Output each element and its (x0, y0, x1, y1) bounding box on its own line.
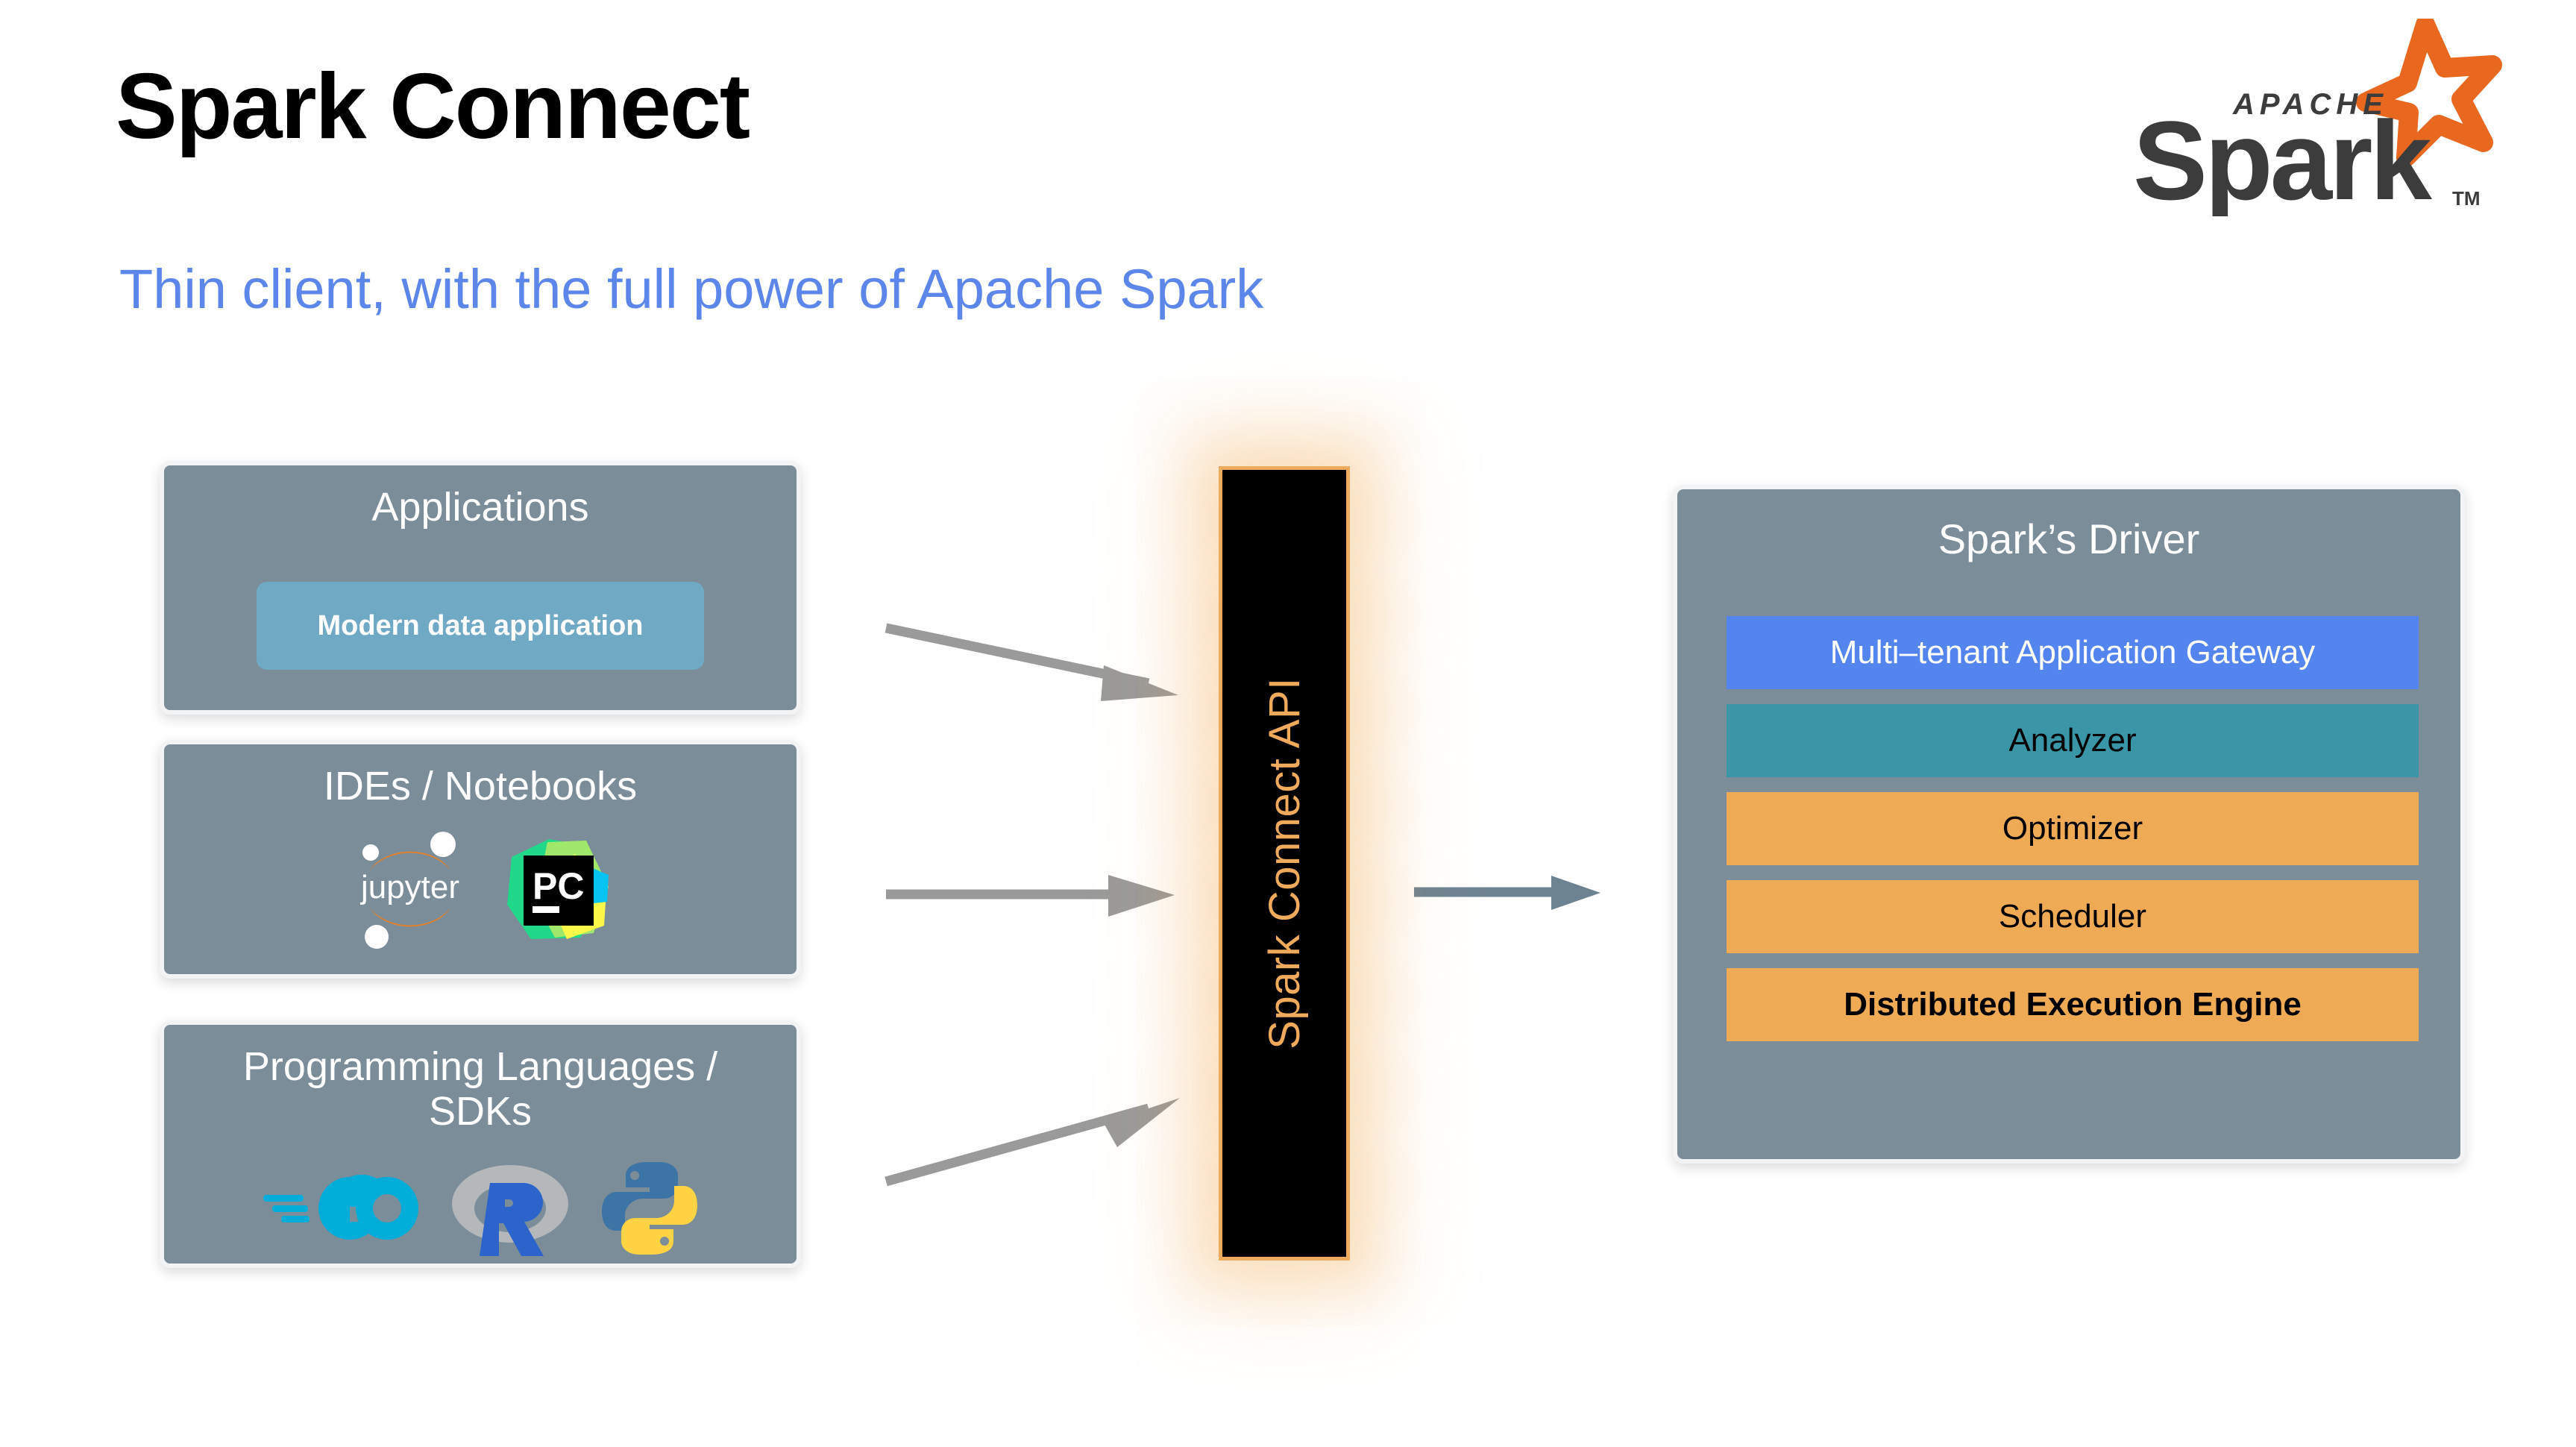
go-logo (260, 1164, 421, 1257)
client-card-ides-notebooks[interactable]: IDEs / Notebooks jupyter (160, 740, 801, 979)
slide-canvas: Spark Connect Thin client, with the full… (0, 0, 2576, 1447)
driver-layer-analyzer[interactable]: Analyzer (1727, 704, 2419, 777)
svg-text:PC: PC (533, 865, 584, 907)
driver-layer-label: Optimizer (2002, 810, 2143, 847)
spark-driver-panel[interactable]: Spark’s Driver Multi–tenant Application … (1673, 485, 2465, 1164)
client-card-applications[interactable]: Applications Modern data application (160, 461, 801, 715)
driver-layer-label: Distributed Execution Engine (1844, 986, 2302, 1023)
spark-driver-layer-stack: Multi–tenant Application Gateway Analyze… (1727, 616, 2419, 1056)
trademark-mark: TM (2452, 187, 2481, 210)
ide-logo-row: jupyter PC (164, 825, 797, 957)
driver-layer-scheduler[interactable]: Scheduler (1727, 880, 2419, 953)
driver-layer-label: Scheduler (1999, 898, 2146, 935)
spark-driver-title: Spark’s Driver (1677, 489, 2460, 563)
arrow-languages-to-api (880, 1059, 1208, 1193)
modern-data-application-box[interactable]: Modern data application (257, 582, 704, 670)
arrow-applications-to-api (880, 612, 1208, 716)
card-title-applications: Applications (164, 465, 797, 530)
driver-layer-optimizer[interactable]: Optimizer (1727, 792, 2419, 865)
driver-layer-label: Analyzer (2008, 722, 2136, 759)
pycharm-logo: PC (503, 833, 615, 949)
spark-connect-api-label: Spark Connect API (1260, 677, 1310, 1049)
python-logo (599, 1158, 700, 1263)
driver-layer-label: Multi–tenant Application Gateway (1830, 634, 2316, 671)
svg-text:jupyter: jupyter (359, 869, 459, 905)
card-title-line-2: SDKs (164, 1089, 797, 1134)
modern-data-application-label: Modern data application (317, 610, 643, 642)
apache-spark-logo: APACHE Spark TM (2133, 19, 2506, 216)
page-title: Spark Connect (116, 54, 749, 160)
arrow-ides-to-api (880, 861, 1201, 944)
driver-layer-execution-engine[interactable]: Distributed Execution Engine (1727, 968, 2419, 1041)
card-title-programming-languages: Programming Languages / SDKs (164, 1025, 797, 1134)
jupyter-logo: jupyter (346, 825, 474, 957)
card-title-line-1: Programming Languages / (164, 1044, 797, 1089)
spark-wordmark: Spark (2133, 98, 2432, 216)
language-logo-row (164, 1156, 797, 1264)
driver-layer-gateway[interactable]: Multi–tenant Application Gateway (1727, 616, 2419, 689)
client-card-programming-languages[interactable]: Programming Languages / SDKs (160, 1020, 801, 1268)
arrow-api-to-driver (1410, 865, 1611, 940)
page-subtitle: Thin client, with the full power of Apac… (119, 257, 1263, 321)
spark-connect-api-bar[interactable]: Spark Connect API (1219, 466, 1350, 1261)
r-logo (447, 1156, 574, 1264)
card-title-ides-notebooks: IDEs / Notebooks (164, 744, 797, 809)
